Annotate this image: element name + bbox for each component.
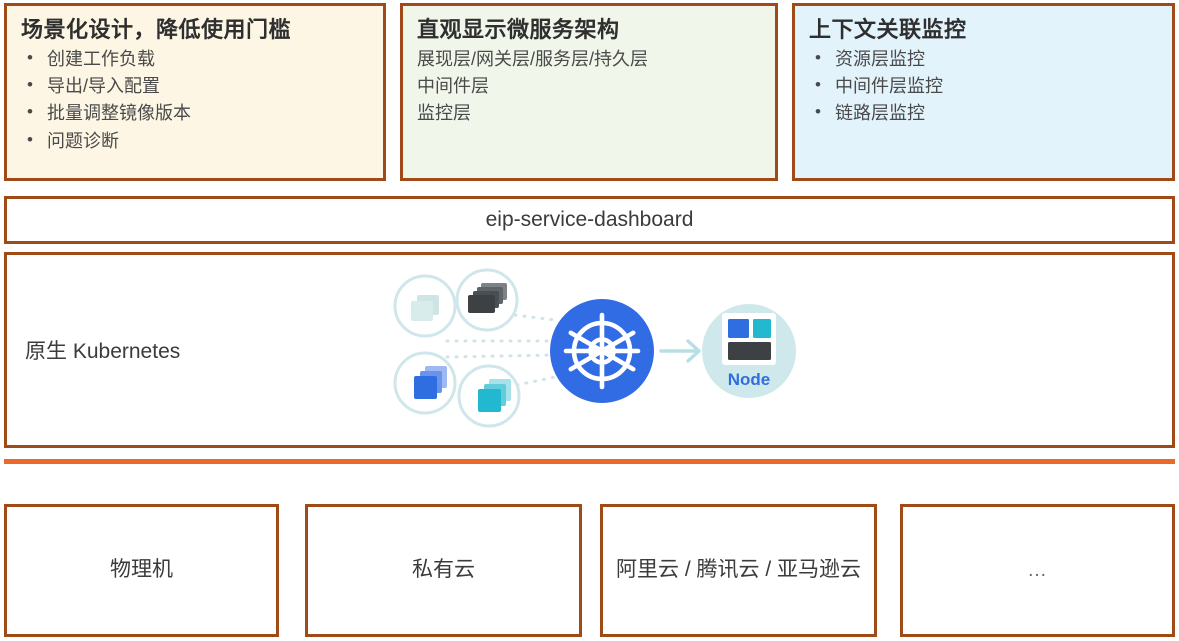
infra-box-public-clouds: 阿里云 / 腾讯云 / 亚马逊云 bbox=[600, 504, 877, 637]
kubernetes-helm-icon bbox=[550, 299, 654, 403]
list-item: 问题诊断 bbox=[21, 128, 369, 155]
list-item: 监控层 bbox=[417, 100, 761, 127]
arrow-right-icon bbox=[661, 341, 699, 361]
feature-panel-microservice-architecture: 直观显示微服务架构 展现层/网关层/服务层/持久层 中间件层 监控层 bbox=[400, 3, 778, 181]
list-item: 中间件层 bbox=[417, 73, 761, 100]
card-stack-dark-icon bbox=[457, 270, 517, 330]
kubernetes-layer-band: 原生 Kubernetes bbox=[4, 252, 1175, 448]
list-item: 创建工作负载 bbox=[21, 46, 369, 73]
list-item: 批量调整镜像版本 bbox=[21, 100, 369, 127]
architecture-diagram: 场景化设计，降低使用门槛 创建工作负载 导出/导入配置 批量调整镜像版本 问题诊… bbox=[0, 0, 1179, 641]
infra-box-physical-machine: 物理机 bbox=[4, 504, 279, 637]
kubernetes-illustration: Node bbox=[377, 263, 817, 439]
section-divider bbox=[4, 459, 1175, 464]
card-stack-pale-icon bbox=[395, 276, 455, 336]
infra-box-more: ... bbox=[900, 504, 1175, 637]
list-item: 展现层/网关层/服务层/持久层 bbox=[417, 46, 761, 73]
infra-label: ... bbox=[1028, 557, 1047, 585]
panel-bullet-list: 创建工作负载 导出/导入配置 批量调整镜像版本 问题诊断 bbox=[21, 46, 369, 155]
list-item: 资源层监控 bbox=[809, 46, 1158, 73]
list-item: 导出/导入配置 bbox=[21, 73, 369, 100]
infra-box-private-cloud: 私有云 bbox=[305, 504, 582, 637]
panel-line-list: 展现层/网关层/服务层/持久层 中间件层 监控层 bbox=[417, 46, 761, 128]
feature-panel-scenario-design: 场景化设计，降低使用门槛 创建工作负载 导出/导入配置 批量调整镜像版本 问题诊… bbox=[4, 3, 386, 181]
panel-title: 直观显示微服务架构 bbox=[417, 16, 761, 44]
kubernetes-label: 原生 Kubernetes bbox=[25, 335, 180, 365]
infra-label: 私有云 bbox=[412, 555, 475, 585]
node-label: Node bbox=[728, 370, 771, 389]
dashboard-layer-bar: eip-service-dashboard bbox=[4, 196, 1175, 244]
dashboard-label: eip-service-dashboard bbox=[486, 208, 694, 232]
list-item: 中间件层监控 bbox=[809, 73, 1158, 100]
panel-title: 上下文关联监控 bbox=[809, 16, 1158, 44]
feature-panel-context-monitoring: 上下文关联监控 资源层监控 中间件层监控 链路层监控 bbox=[792, 3, 1175, 181]
card-stack-teal-icon bbox=[459, 366, 519, 426]
card-stack-blue-icon bbox=[395, 353, 455, 413]
panel-bullet-list: 资源层监控 中间件层监控 链路层监控 bbox=[809, 46, 1158, 128]
infra-label: 阿里云 / 腾讯云 / 亚马逊云 bbox=[616, 555, 861, 585]
panel-title: 场景化设计，降低使用门槛 bbox=[21, 16, 369, 44]
infra-label: 物理机 bbox=[110, 555, 173, 585]
list-item: 链路层监控 bbox=[809, 100, 1158, 127]
